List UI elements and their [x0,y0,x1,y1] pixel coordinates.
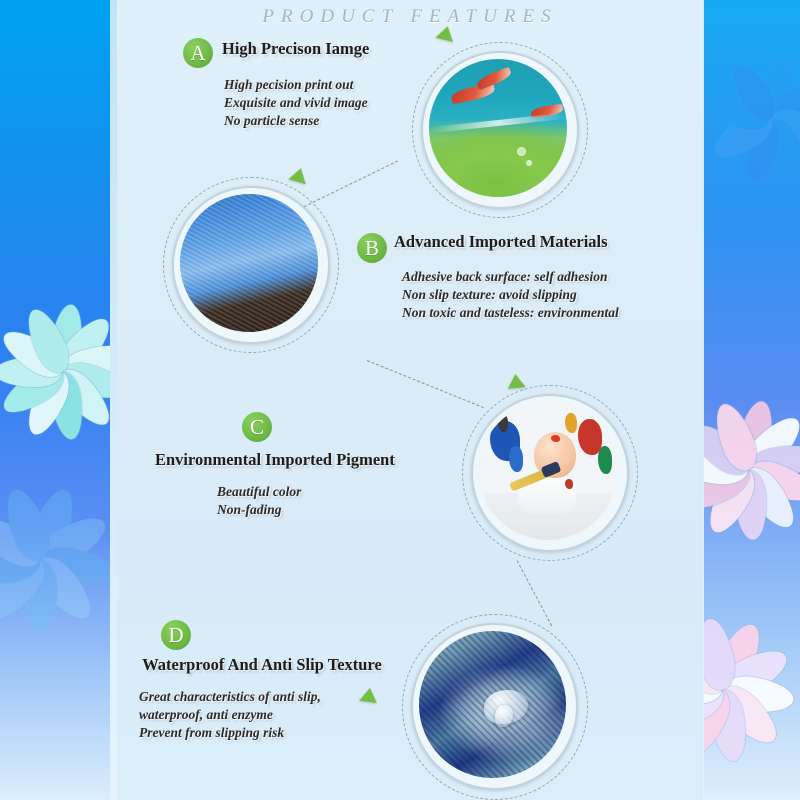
right-decorative-band [704,0,800,800]
feature-badge-c: C [242,412,272,442]
feature-photo-b [163,177,339,353]
photo-image-a [429,59,567,197]
feature-badge-a: A [183,38,213,68]
feature-headline-c: Environmental Imported Pigment [155,450,395,470]
feature-photo-a [412,42,588,218]
arrow-marker-d [359,687,379,703]
feature-headline-d: Waterproof And Anti Slip Texture [117,655,407,675]
product-features-poster: PRODUCT FEATURES A High Precison Iamg [0,0,800,800]
page-title: PRODUCT FEATURES [117,6,703,28]
feature-headline-b: Advanced Imported Materials [394,232,608,252]
feature-photo-c [462,385,638,561]
left-band-edge [110,0,117,800]
feature-body-a: High pecision print out Exquisite and vi… [224,76,368,130]
feature-photo-d [402,614,588,800]
photo-image-d [419,631,566,778]
feature-badge-d: D [161,620,191,650]
feature-badge-b: B [357,233,387,263]
left-decorative-band [0,0,110,800]
arrow-marker-c [506,373,525,389]
photo-image-b [180,194,318,332]
arrow-marker-a [436,24,457,42]
feature-headline-a: High Precison Iamge [222,39,369,59]
content-panel: PRODUCT FEATURES A High Precison Iamg [117,0,703,800]
feature-body-b: Adhesive back surface: self adhesion Non… [402,268,619,322]
feature-body-c: Beautiful color Non-fading [217,483,301,519]
photo-image-c [479,402,617,540]
feature-body-d: Great characteristics of anti slip, wate… [139,688,321,742]
